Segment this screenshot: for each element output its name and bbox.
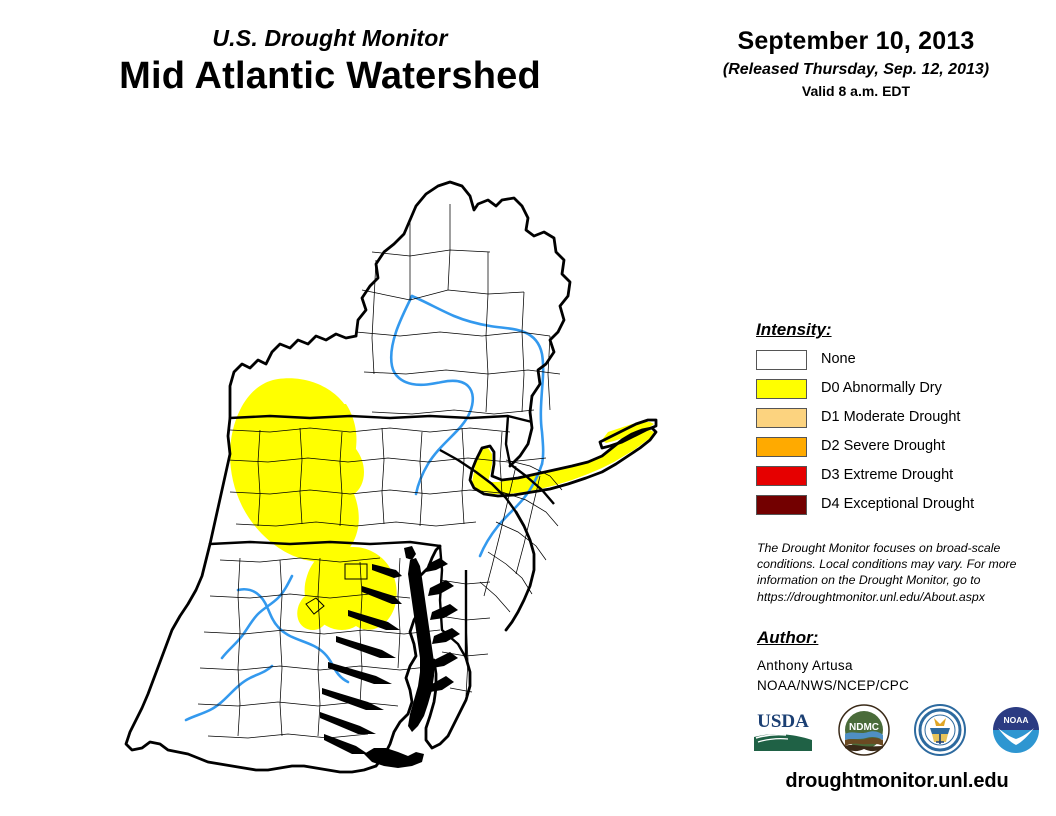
legend-label-d4: D4 Exceptional Drought bbox=[821, 497, 974, 512]
legend-swatch-d1 bbox=[756, 408, 807, 428]
legend-swatch-d3 bbox=[756, 466, 807, 486]
legend-label-d2: D2 Severe Drought bbox=[821, 439, 945, 454]
author-affiliation: NOAA/NWS/NCEP/CPC bbox=[757, 676, 1037, 696]
svg-text:NOAA: NOAA bbox=[1003, 715, 1028, 725]
legend-item-d4: D4 Exceptional Drought bbox=[756, 494, 1036, 515]
legend-item-none: None bbox=[756, 349, 1036, 370]
svg-text:NDMC: NDMC bbox=[849, 722, 879, 733]
valid-time: Valid 8 a.m. EDT bbox=[676, 84, 1036, 99]
release-date: (Released Thursday, Sep. 12, 2013) bbox=[676, 61, 1036, 79]
author-title: Author: bbox=[757, 628, 1037, 648]
header-left: U.S. Drought Monitor Mid Atlantic Waters… bbox=[0, 26, 660, 99]
usda-logo: USDA bbox=[752, 707, 814, 758]
legend-swatch-d2 bbox=[756, 437, 807, 457]
intensity-legend: Intensity: None D0 Abnormally Dry D1 Mod… bbox=[756, 320, 1036, 523]
logo-row: USDA NDMC bbox=[752, 702, 1042, 762]
legend-swatch-none bbox=[756, 350, 807, 370]
legend-label-d0: D0 Abnormally Dry bbox=[821, 381, 942, 396]
svg-text:USDA: USDA bbox=[757, 711, 809, 732]
disclaimer-text: The Drought Monitor focuses on broad-sca… bbox=[757, 540, 1019, 605]
legend-swatch-d4 bbox=[756, 495, 807, 515]
site-url[interactable]: droughtmonitor.unl.edu bbox=[752, 770, 1042, 793]
author-block: Author: Anthony Artusa NOAA/NWS/NCEP/CPC bbox=[757, 628, 1037, 695]
legend-item-d0: D0 Abnormally Dry bbox=[756, 378, 1036, 399]
drought-map bbox=[110, 160, 670, 780]
noaa-logo: NOAA bbox=[990, 704, 1042, 761]
map-date: September 10, 2013 bbox=[676, 28, 1036, 56]
legend-label-d3: D3 Extreme Drought bbox=[821, 468, 953, 483]
legend-item-d2: D2 Severe Drought bbox=[756, 436, 1036, 457]
ndmc-logo: NDMC bbox=[838, 704, 890, 761]
legend-item-d1: D1 Moderate Drought bbox=[756, 407, 1036, 428]
usda-seal-logo bbox=[914, 704, 966, 761]
page-subtitle: U.S. Drought Monitor bbox=[0, 26, 660, 51]
page-title: Mid Atlantic Watershed bbox=[0, 55, 660, 99]
header-right: September 10, 2013 (Released Thursday, S… bbox=[676, 28, 1036, 99]
legend-label-d1: D1 Moderate Drought bbox=[821, 410, 960, 425]
legend-item-d3: D3 Extreme Drought bbox=[756, 465, 1036, 486]
legend-label-none: None bbox=[821, 352, 856, 367]
author-name: Anthony Artusa bbox=[757, 656, 1037, 676]
legend-title: Intensity: bbox=[756, 320, 1036, 340]
legend-swatch-d0 bbox=[756, 379, 807, 399]
